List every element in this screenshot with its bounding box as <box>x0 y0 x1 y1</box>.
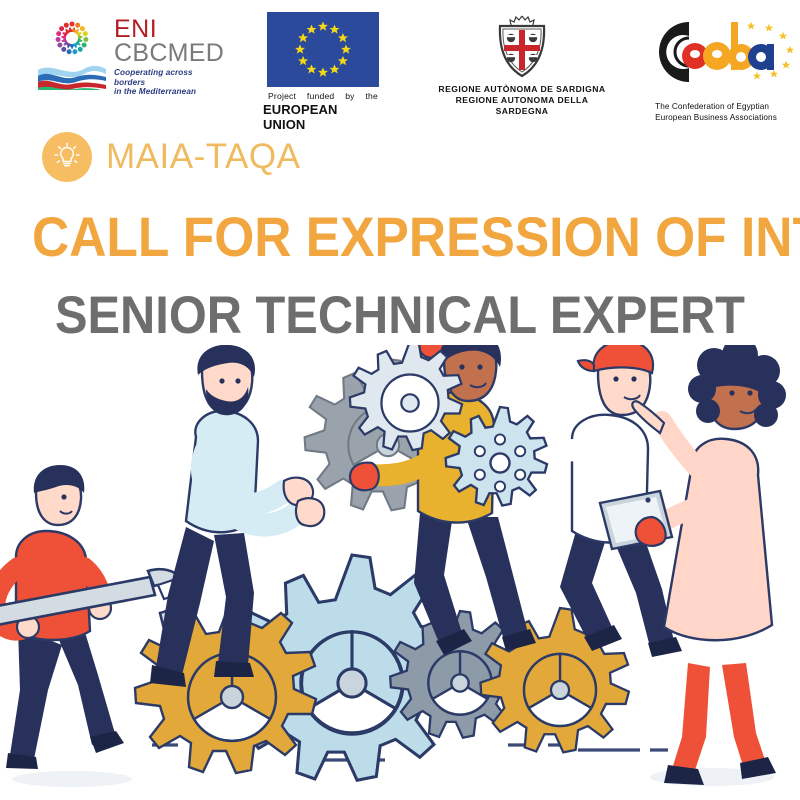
poster-canvas: ENI CBCMED Cooperating across borders in… <box>0 0 800 800</box>
regione-sardegna-logo: REGIONE AUTÒNOMA DE SARDIGNA REGIONE AUT… <box>432 14 612 117</box>
sardegna-caption-line1: REGIONE AUTÒNOMA DE SARDIGNA <box>432 84 612 95</box>
ceeba-logo: The Confederation of Egyptian European B… <box>632 14 800 123</box>
european-union-logo: Project funded by the EUROPEAN UNION <box>263 12 383 132</box>
maia-taqa-brand: MAIA-TAQA <box>42 132 300 182</box>
ceeba-wordmark-icon <box>633 14 799 100</box>
eu-caption-line1: Project funded by the <box>268 91 378 101</box>
lightbulb-icon <box>42 132 92 182</box>
brand-name: MAIA-TAQA <box>106 137 300 177</box>
sardinia-coat-of-arms-icon <box>491 14 553 80</box>
ceeba-caption-line1: The Confederation of Egyptian <box>655 102 777 113</box>
eu-caption-line2: EUROPEAN UNION <box>263 102 383 132</box>
teamwork-gears-illustration <box>0 345 800 800</box>
eni-cbcmed-logo: ENI CBCMED Cooperating across borders in… <box>36 18 226 97</box>
sardegna-caption-line2: REGIONE AUTONOMA DELLA SARDEGNA <box>432 95 612 117</box>
eni-sun-and-waves-icon <box>36 18 108 90</box>
page-subtitle: SENIOR TECHNICAL EXPERT <box>32 286 768 346</box>
cbcmed-wordmark: CBCMED <box>114 41 226 66</box>
eni-tagline-line1: Cooperating across borders <box>114 68 226 87</box>
ceeba-caption-line2: European Business Associations <box>655 113 777 124</box>
eni-wordmark: ENI <box>114 18 226 41</box>
eni-cbcmed-mark <box>36 18 108 90</box>
page-title: CALL FOR EXPRESSION OF INTEREST <box>32 206 768 268</box>
partner-logo-bar: ENI CBCMED Cooperating across borders in… <box>0 0 800 120</box>
eni-tagline-line2: in the Mediterranean <box>114 87 226 97</box>
eu-flag-icon <box>267 12 379 87</box>
ground-shadow <box>12 771 132 787</box>
gear-silver-top <box>350 345 462 450</box>
